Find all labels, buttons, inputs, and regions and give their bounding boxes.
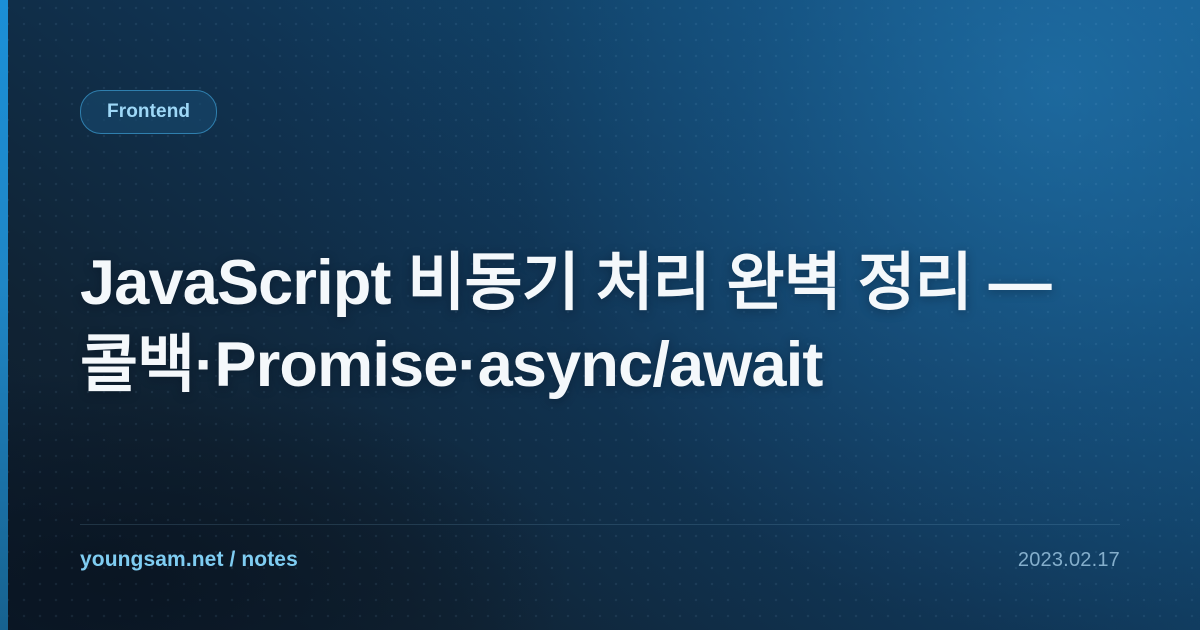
publish-date: 2023.02.17	[1018, 549, 1120, 572]
card-footer: youngsam.net / notes 2023.02.17	[80, 541, 1120, 579]
footer-divider	[80, 524, 1120, 525]
og-share-card: Frontend JavaScript 비동기 처리 완벽 정리 — 콜백·Pr…	[0, 0, 1200, 630]
site-name: youngsam.net / notes	[80, 548, 298, 572]
page-title: JavaScript 비동기 처리 완벽 정리 — 콜백·Promise·asy…	[80, 243, 1100, 407]
left-accent-bar	[0, 0, 8, 630]
card-content: Frontend JavaScript 비동기 처리 완벽 정리 — 콜백·Pr…	[80, 0, 1120, 630]
category-badge[interactable]: Frontend	[80, 90, 217, 134]
